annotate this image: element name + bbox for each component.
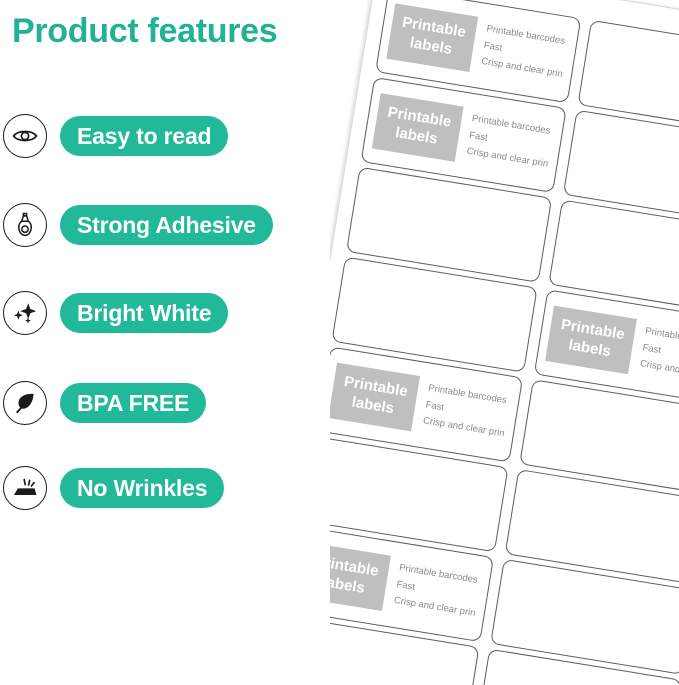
- feature-badge-easy-to-read[interactable]: Easy to read: [60, 116, 228, 156]
- iron-icon: [3, 466, 47, 510]
- sparkles-icon: [3, 291, 47, 335]
- label-bullet-3: Crisp and clear printing: [639, 356, 679, 386]
- label-sheet-area: Printable labels Printable barcodes Fast…: [330, 0, 679, 685]
- feature-item-strong-adhesive: Strong Adhesive: [0, 199, 273, 251]
- label-bullets: Printable barcodes Fast Crisp and clear …: [639, 324, 679, 386]
- label-grid: Printable labels Printable barcodes Fast…: [330, 0, 679, 685]
- page-title: Product features: [12, 12, 277, 51]
- feature-item-bright-white: Bright White: [0, 287, 228, 339]
- label-bullets: Printable barcodes Fast Crisp and clear …: [465, 111, 555, 173]
- label-bullets: Printable barcodes Fast Crisp and clear …: [422, 381, 512, 443]
- label-bullets: Printable barcodes Fast Crisp and clear …: [480, 21, 570, 83]
- label-bullets: Printable barcodes Fast Crisp and clear …: [393, 560, 483, 622]
- features-panel: Product features Easy to read Strong Adh…: [0, 0, 340, 685]
- eye-icon: [3, 114, 47, 158]
- label-tag: Printable labels: [386, 4, 478, 72]
- feature-item-no-wrinkles: No Wrinkles: [0, 462, 224, 514]
- glue-bottle-icon: [3, 203, 47, 247]
- feature-item-easy-to-read: Easy to read: [0, 110, 228, 162]
- leaf-icon: [3, 381, 47, 425]
- feature-badge-bright-white[interactable]: Bright White: [60, 293, 228, 333]
- feature-badge-strong-adhesive[interactable]: Strong Adhesive: [60, 205, 273, 245]
- label-sheet: Printable labels Printable barcodes Fast…: [330, 0, 679, 685]
- label-tag: Printable labels: [330, 363, 420, 431]
- feature-item-bpa-free: BPA FREE: [0, 377, 206, 429]
- feature-badge-no-wrinkles[interactable]: No Wrinkles: [60, 468, 224, 508]
- feature-badge-bpa-free[interactable]: BPA FREE: [60, 383, 206, 423]
- label-tag: Printable labels: [372, 93, 464, 161]
- label-tag: Printable labels: [545, 306, 637, 374]
